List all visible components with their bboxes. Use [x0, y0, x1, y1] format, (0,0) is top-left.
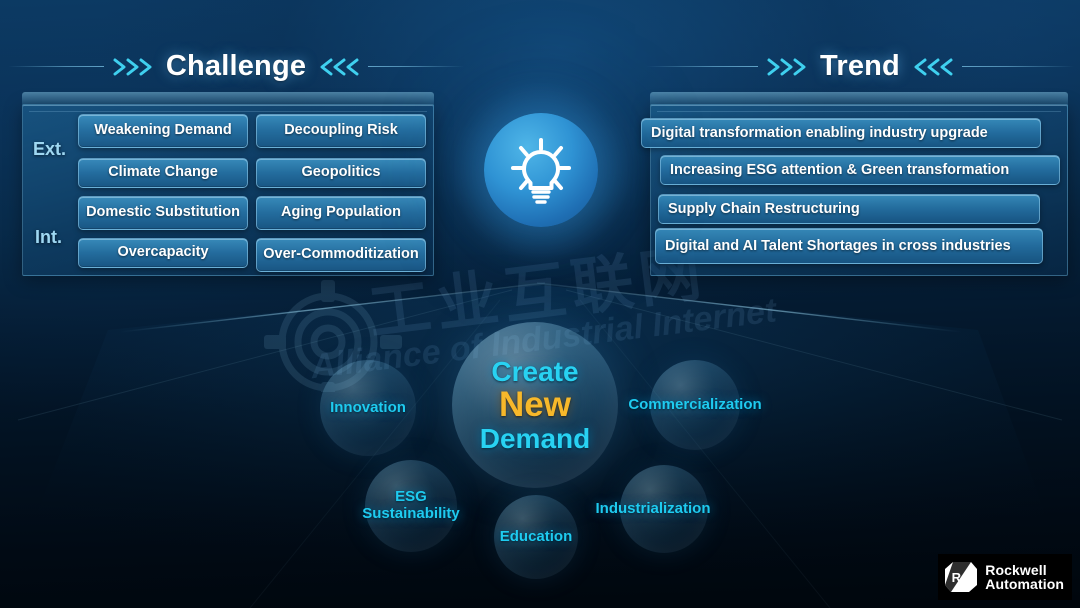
- center-line-new: New: [480, 385, 590, 424]
- challenge-chip-overcapacity[interactable]: Overcapacity: [78, 238, 248, 268]
- chevrons-right-icon: [112, 56, 158, 78]
- challenge-group-label-internal: Int.: [35, 227, 62, 248]
- bubble-label: ESG Sustainability: [362, 489, 460, 523]
- trend-chip-supply-chain-restructuring[interactable]: Supply Chain Restructuring: [658, 194, 1040, 224]
- bubble-create-new-demand[interactable]: Create New Demand: [452, 322, 618, 488]
- bubble-commercialization[interactable]: Commercialization: [650, 360, 740, 450]
- challenge-title-row: Challenge: [8, 50, 464, 83]
- bubble-education[interactable]: Education: [494, 495, 578, 579]
- challenge-chip-domestic-substitution[interactable]: Domestic Substitution: [78, 196, 248, 230]
- title-rule-left: [8, 66, 104, 67]
- logo-line-1: Rockwell: [985, 563, 1064, 577]
- challenge-group-label-external: Ext.: [33, 139, 66, 160]
- challenge-title: Challenge: [166, 50, 306, 83]
- center-line-demand: Demand: [480, 423, 590, 454]
- panel-inner-line: [29, 111, 427, 112]
- bubble-label: Innovation: [320, 400, 416, 417]
- trend-chip-esg-green-transformation[interactable]: Increasing ESG attention & Green transfo…: [660, 155, 1060, 185]
- lightbulb-icon: [504, 133, 578, 207]
- ra-mark-icon: RA: [944, 560, 978, 594]
- challenge-chip-over-commoditization[interactable]: Over-Commoditization: [256, 238, 426, 272]
- challenge-chip-decoupling-risk[interactable]: Decoupling Risk: [256, 114, 426, 148]
- chevrons-left-icon: [908, 56, 954, 78]
- bubble-label: Education: [494, 529, 578, 546]
- challenge-chip-aging-population[interactable]: Aging Population: [256, 196, 426, 230]
- logo-line-2: Automation: [985, 577, 1064, 591]
- bubble-innovation[interactable]: Innovation: [320, 360, 416, 456]
- trend-title-row: Trend: [646, 50, 1074, 83]
- bubble-label: Commercialization: [628, 397, 761, 414]
- trend-chip-digital-ai-talent-shortages[interactable]: Digital and AI Talent Shortages in cross…: [655, 228, 1043, 264]
- bubble-industrialization[interactable]: Industrialization: [620, 465, 708, 553]
- rockwell-automation-logo: RA Rockwell Automation: [938, 554, 1072, 600]
- challenge-chip-weakening-demand[interactable]: Weakening Demand: [78, 114, 248, 148]
- panel-inner-line: [657, 111, 1061, 112]
- svg-text:RA: RA: [952, 570, 971, 585]
- chevrons-right-icon: [766, 56, 812, 78]
- center-line-create: Create: [480, 356, 590, 387]
- trend-rule-right: [962, 66, 1074, 67]
- trend-rule-left: [646, 66, 758, 67]
- trend-title: Trend: [820, 50, 900, 83]
- slide-canvas: 工业互联网 Alliance of Industrial Internet Ch…: [0, 0, 1080, 608]
- bubble-label: Industrialization: [596, 501, 711, 518]
- bubble-esg-sustainability[interactable]: ESG Sustainability: [365, 460, 457, 552]
- trend-chip-digital-transformation[interactable]: Digital transformation enabling industry…: [641, 118, 1041, 148]
- title-rule-right: [368, 66, 464, 67]
- challenge-chip-geopolitics[interactable]: Geopolitics: [256, 158, 426, 188]
- lightbulb-badge: [484, 113, 598, 227]
- bubble-label: Create New Demand: [480, 356, 590, 455]
- challenge-chip-climate-change[interactable]: Climate Change: [78, 158, 248, 188]
- chevrons-left-icon: [314, 56, 360, 78]
